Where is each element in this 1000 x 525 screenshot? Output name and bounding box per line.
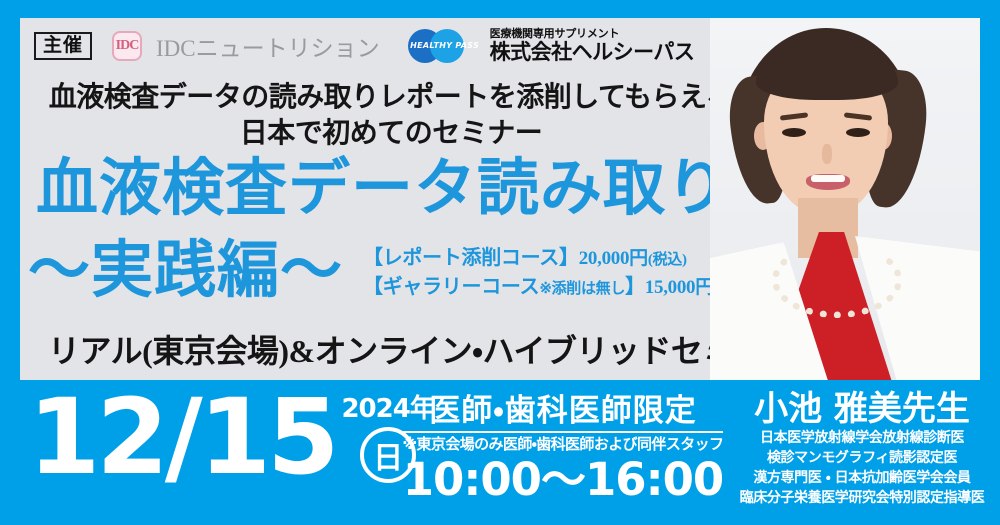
seminar-banner: 主催 IDC IDCニュートリション HEALTHY PASS 医療機関専用サプ… <box>0 0 1000 525</box>
portrait-pearl-necklace <box>772 242 902 318</box>
healthy-pass-block: HEALTHY PASS 医療機関専用サプリメント 株式会社ヘルシーパス <box>408 28 695 65</box>
price-amount: 15,000 <box>645 277 695 298</box>
divider-rule <box>403 431 723 433</box>
event-info-bar: 12/15 2024年 日 医師・歯科医師限定 ※東京会場のみ医師・歯科医師およ… <box>0 388 1000 525</box>
price-yen-unit: 円 <box>629 248 648 269</box>
event-time: 10:00〜16:00 <box>398 455 728 505</box>
portrait-eye-right <box>846 128 870 137</box>
speaker-credential: 漢方専門医 ・ 日本抗加齢医学会会員 <box>726 469 998 489</box>
audience-restriction: 医師・歯科医師限定 <box>398 394 728 428</box>
price-tax-note: (税込) <box>648 252 687 268</box>
price-course-note: ※添削は無し <box>539 281 625 297</box>
price-bracket-close: 】 <box>625 276 645 298</box>
speaker-credential: 検診マンモグラフィ読影認定医 <box>726 449 998 469</box>
healthy-pass-mark-text: HEALTHY PASS <box>408 41 482 50</box>
idc-logo-text: IDC <box>116 38 139 54</box>
price-amount: 20,000 <box>579 248 629 269</box>
price-item-gallery: 【ギャラリーコース※添削は無し】15,000円(税込) <box>363 273 753 302</box>
healthy-pass-company-name: 株式会社ヘルシーパス <box>490 40 695 64</box>
healthy-pass-tagline: 医療機関専用サプリメント <box>490 28 695 41</box>
format-line: リアル(東京会場)&オンライン・ハイブリッドセミナー <box>48 326 797 372</box>
lead-line-2: 日本で初めてのセミナー <box>20 116 762 152</box>
price-course-name: レポート添削コース <box>383 247 559 269</box>
price-bracket-close: 】 <box>559 247 579 269</box>
idc-logo-icon: IDC <box>112 31 142 61</box>
portrait-teeth <box>811 175 845 182</box>
lead-copy: 血液検査データの読み取りレポートを添削してもらえる 日本で初めてのセミナー <box>20 80 762 152</box>
speaker-portrait-photo <box>710 18 980 380</box>
healthy-pass-logo-icon: HEALTHY PASS <box>408 29 482 63</box>
speaker-credential: 臨床分子栄養医学研究会特別認定指導医 <box>726 489 998 509</box>
speaker-group: 小池 雅美先生 日本医学放射線学会放射線診断医 検診マンモグラフィ読影認定医 漢… <box>726 390 998 509</box>
upper-content-panel: 主催 IDC IDCニュートリション HEALTHY PASS 医療機関専用サプ… <box>20 18 980 380</box>
audience-note: ※東京会場のみ医師・歯科医師および同伴スタッフ <box>398 435 728 453</box>
page-title: 血液検査データ読み取り <box>36 158 729 220</box>
price-list: 【レポート添削コース】20,000円(税込) 【ギャラリーコース※添削は無し】1… <box>363 244 753 302</box>
portrait-nose <box>822 144 832 164</box>
lead-line-1: 血液検査データの読み取りレポートを添削してもらえる <box>20 80 762 116</box>
host-label-box: 主催 <box>34 32 92 61</box>
price-course-name: ギャラリーコース <box>383 276 540 298</box>
event-date: 12/15 <box>28 388 335 487</box>
page-subtitle: 〜実践編〜 <box>28 240 343 302</box>
price-bracket-open: 【 <box>363 247 383 269</box>
healthy-pass-text-block: 医療機関専用サプリメント 株式会社ヘルシーパス <box>490 28 695 65</box>
event-date-group: 12/15 2024年 日 <box>28 388 435 487</box>
price-item-report: 【レポート添削コース】20,000円(税込) <box>363 244 753 273</box>
speaker-credential: 日本医学放射線学会放射線診断医 <box>726 429 998 449</box>
speaker-name: 小池 雅美先生 <box>726 390 998 429</box>
idc-company-name: IDCニュートリション <box>156 29 380 63</box>
portrait-eye-left <box>782 128 806 137</box>
event-audience-group: 医師・歯科医師限定 ※東京会場のみ医師・歯科医師および同伴スタッフ 10:00〜… <box>398 394 728 505</box>
price-bracket-open: 【 <box>363 276 383 298</box>
sponsor-row: 主催 IDC IDCニュートリション HEALTHY PASS 医療機関専用サプ… <box>34 26 694 66</box>
